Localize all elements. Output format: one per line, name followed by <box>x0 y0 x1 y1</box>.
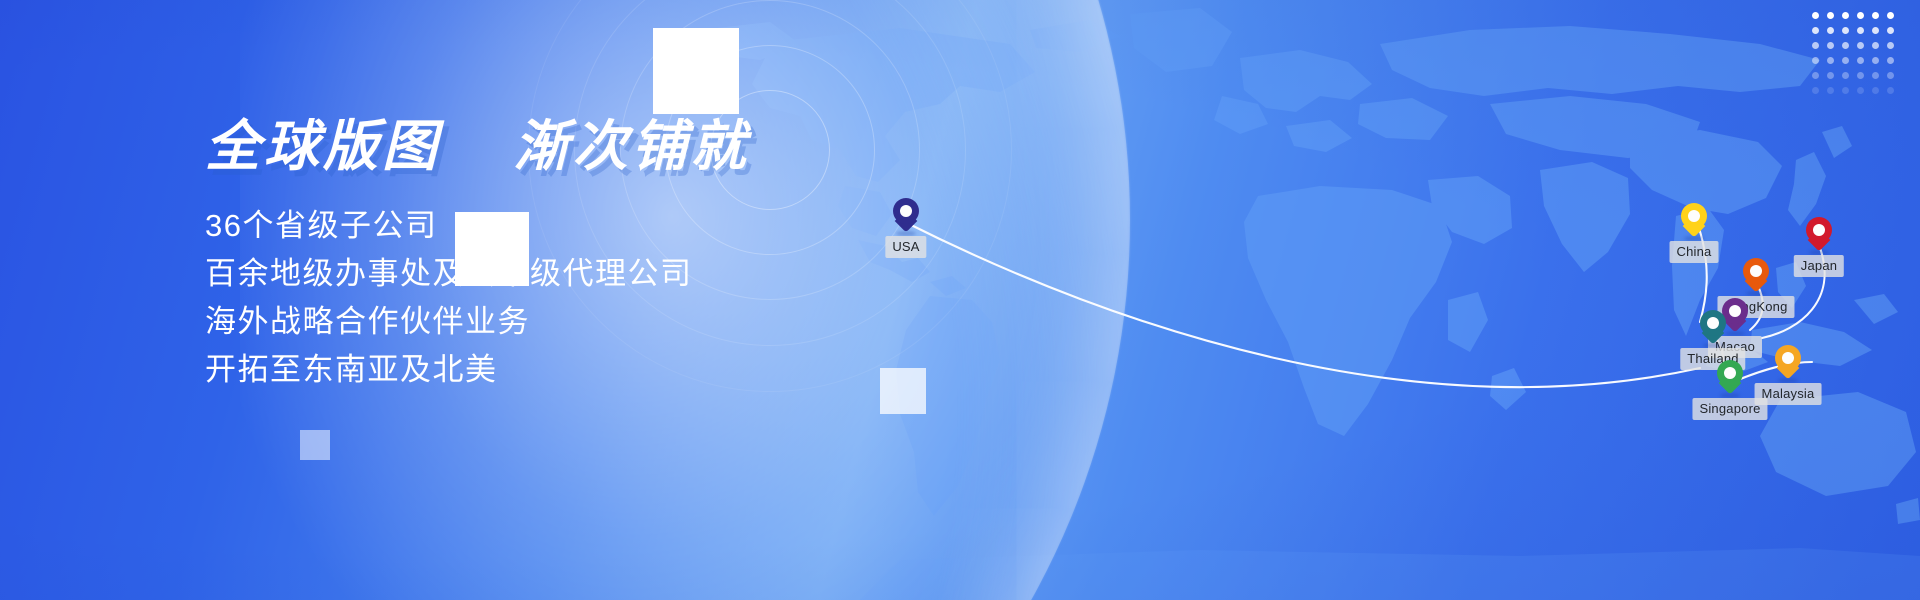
pin-center-dot <box>900 205 912 217</box>
page-title: 全球版图 渐次铺就 <box>205 118 965 176</box>
grid-dot <box>1812 72 1819 79</box>
location-pin-icon[interactable] <box>1717 360 1743 394</box>
grid-dot <box>1812 57 1819 64</box>
pin-center-dot <box>1688 210 1700 222</box>
grid-dot <box>1872 42 1879 49</box>
map-marker-thailand[interactable]: Thailand <box>1700 310 1726 344</box>
location-pin-icon[interactable] <box>1775 345 1801 379</box>
location-pin-icon[interactable] <box>1681 203 1707 237</box>
grid-dot <box>1827 57 1834 64</box>
grid-dot <box>1842 42 1849 49</box>
headline-part-2: 渐次铺就 <box>514 115 750 177</box>
grid-dot <box>1887 87 1894 94</box>
grid-dot <box>1872 87 1879 94</box>
grid-dot <box>1842 57 1849 64</box>
pin-center-dot <box>1750 265 1762 277</box>
grid-dot <box>1827 42 1834 49</box>
map-marker-label: Japan <box>1794 255 1844 277</box>
map-marker-singapore[interactable]: Singapore <box>1717 360 1743 394</box>
grid-dot <box>1827 27 1834 34</box>
grid-dot <box>1842 87 1849 94</box>
location-pin-icon[interactable] <box>1700 310 1726 344</box>
map-marker-hongkong[interactable]: HongKong <box>1743 258 1769 292</box>
banner-subtext: 36个省级子公司 百余地级办事处及县市级代理公司 海外战略合作伙伴业务 开拓至东… <box>205 202 965 394</box>
grid-dot <box>1872 57 1879 64</box>
grid-dot <box>1842 72 1849 79</box>
subtext-line: 海外战略合作伙伴业务 <box>205 298 965 346</box>
pin-center-dot <box>1729 305 1741 317</box>
map-marker-malaysia[interactable]: Malaysia <box>1775 345 1801 379</box>
subtext-line: 开拓至东南亚及北美 <box>205 346 965 394</box>
pin-center-dot <box>1813 224 1825 236</box>
grid-dot <box>1857 57 1864 64</box>
map-marker-label: Malaysia <box>1755 383 1822 405</box>
grid-dot <box>1872 27 1879 34</box>
pin-center-dot <box>1724 367 1736 379</box>
location-pin-icon[interactable] <box>1806 217 1832 251</box>
grid-dot <box>1842 27 1849 34</box>
pin-center-dot <box>1707 317 1719 329</box>
location-pin-icon[interactable] <box>893 198 919 232</box>
grid-dot <box>1812 12 1819 19</box>
grid-dot <box>1872 72 1879 79</box>
dot-grid-decoration <box>1808 8 1898 98</box>
grid-dot <box>1857 72 1864 79</box>
grid-dot <box>1857 27 1864 34</box>
location-pin-icon[interactable] <box>1743 258 1769 292</box>
grid-dot <box>1887 72 1894 79</box>
grid-dot <box>1827 12 1834 19</box>
grid-dot <box>1887 27 1894 34</box>
grid-dot <box>1827 87 1834 94</box>
grid-dot <box>1887 57 1894 64</box>
grid-dot <box>1857 42 1864 49</box>
map-marker-japan[interactable]: Japan <box>1806 217 1832 251</box>
map-marker-label: China <box>1670 241 1719 263</box>
subtext-line: 百余地级办事处及县市级代理公司 <box>205 250 965 298</box>
grid-dot <box>1842 12 1849 19</box>
pin-center-dot <box>1782 352 1794 364</box>
grid-dot <box>1857 12 1864 19</box>
map-marker-china[interactable]: China <box>1681 203 1707 237</box>
global-map-banner: 全球版图 渐次铺就 36个省级子公司 百余地级办事处及县市级代理公司 海外战略合… <box>0 0 1920 600</box>
grid-dot <box>1887 42 1894 49</box>
banner-copy: 全球版图 渐次铺就 36个省级子公司 百余地级办事处及县市级代理公司 海外战略合… <box>205 118 965 394</box>
grid-dot <box>1812 27 1819 34</box>
grid-dot <box>1827 72 1834 79</box>
grid-dot <box>1812 87 1819 94</box>
headline-part-1: 全球版图 <box>205 115 441 177</box>
subtext-line: 36个省级子公司 <box>205 202 965 250</box>
grid-dot <box>1812 42 1819 49</box>
map-marker-label: USA <box>885 236 926 258</box>
map-marker-usa[interactable]: USA <box>893 198 919 232</box>
grid-dot <box>1857 87 1864 94</box>
grid-dot <box>1872 12 1879 19</box>
grid-dot <box>1887 12 1894 19</box>
